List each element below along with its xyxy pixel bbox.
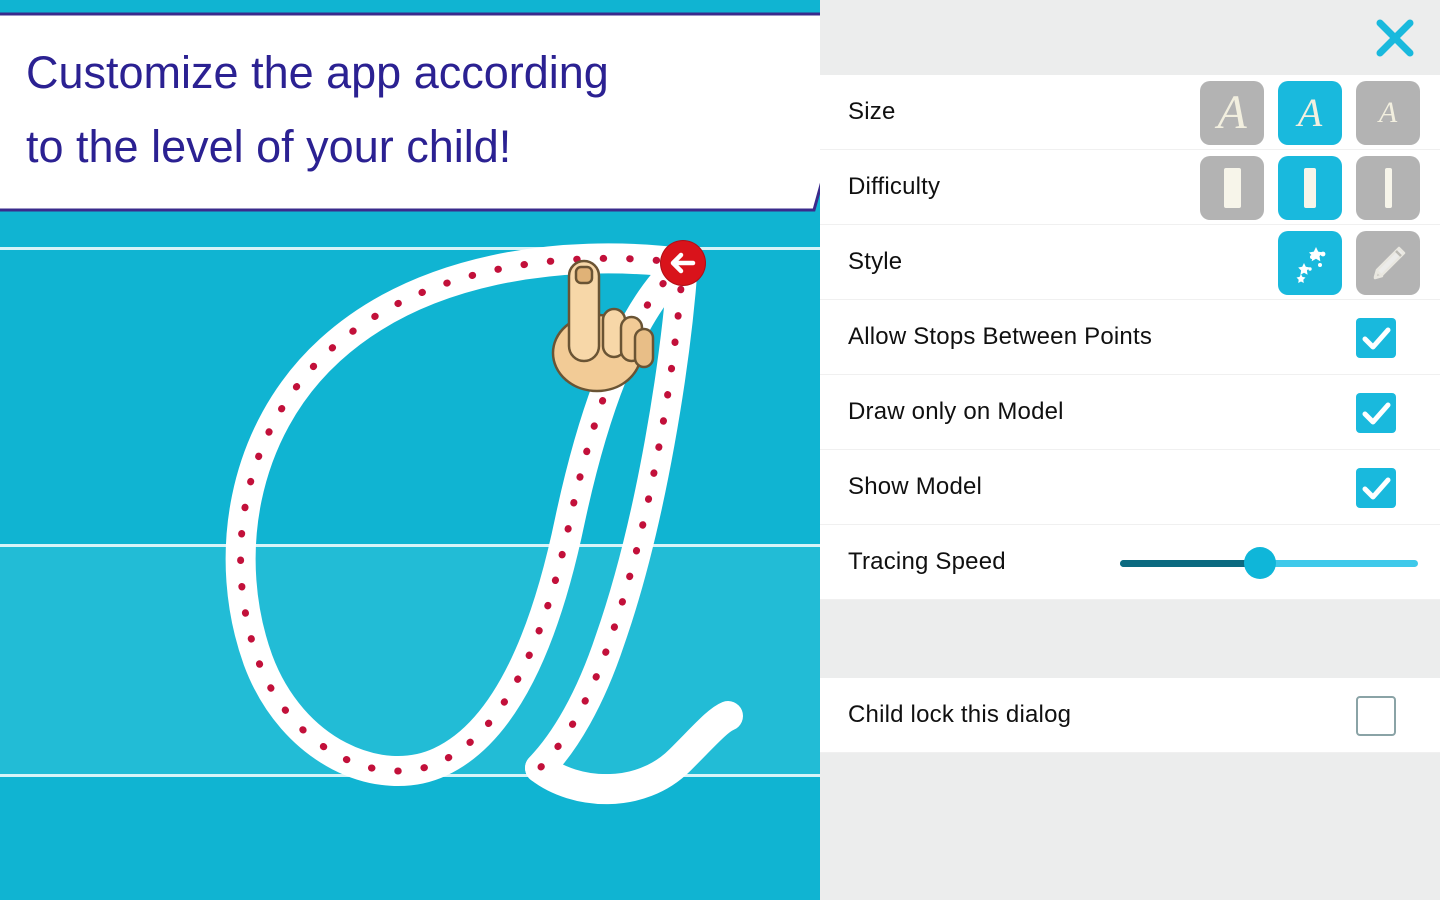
app-root: Customize the app according to the level… <box>0 0 1440 900</box>
panel-spacer <box>820 600 1440 678</box>
callout-text: Customize the app according to the level… <box>26 36 806 184</box>
size-option-small[interactable]: A <box>1356 81 1420 145</box>
difficulty-options <box>1200 150 1440 225</box>
hand-pointer-cursor[interactable] <box>545 255 655 395</box>
checkbox-child-lock[interactable] <box>1356 696 1396 736</box>
setting-label-show-model: Show Model <box>848 473 982 501</box>
setting-label-child-lock: Child lock this dialog <box>848 701 1071 729</box>
settings-rows: Size A A A <box>820 75 1440 900</box>
difficulty-option-medium[interactable] <box>1278 156 1342 220</box>
setting-row-tracing-speed[interactable]: Tracing Speed <box>820 525 1440 600</box>
slider-fill <box>1120 560 1260 567</box>
close-icon[interactable] <box>1365 8 1425 68</box>
setting-label-draw-only-on-model: Draw only on Model <box>848 398 1064 426</box>
setting-row-draw-only-on-model[interactable]: Draw only on Model <box>820 375 1440 450</box>
setting-label-tracing-speed: Tracing Speed <box>848 548 1006 576</box>
size-options: A A A <box>1200 75 1440 150</box>
pencil-icon[interactable] <box>1356 231 1420 295</box>
checkbox-show-model[interactable] <box>1356 468 1396 508</box>
size-option-medium[interactable]: A <box>1278 81 1342 145</box>
start-arrow-marker <box>661 241 705 285</box>
setting-label-style: Style <box>848 248 902 276</box>
sparkles-icon[interactable] <box>1278 231 1342 295</box>
difficulty-option-thick[interactable] <box>1200 156 1264 220</box>
setting-row-style[interactable]: Style <box>820 225 1440 300</box>
size-option-large[interactable]: A <box>1200 81 1264 145</box>
tracing-speed-slider[interactable] <box>1120 543 1418 583</box>
checkbox-draw-only-on-model[interactable] <box>1356 393 1396 433</box>
style-options <box>1278 225 1440 300</box>
setting-label-difficulty: Difficulty <box>848 173 940 201</box>
tooltip-callout: Customize the app according to the level… <box>0 12 820 212</box>
difficulty-option-thin[interactable] <box>1356 156 1420 220</box>
setting-row-allow-stops[interactable]: Allow Stops Between Points <box>820 300 1440 375</box>
panel-header <box>820 0 1440 75</box>
setting-row-show-model[interactable]: Show Model <box>820 450 1440 525</box>
panel-bottom-fill <box>820 753 1440 900</box>
slider-knob[interactable] <box>1244 547 1276 579</box>
tracing-canvas[interactable]: Customize the app according to the level… <box>0 0 820 900</box>
setting-label-allow-stops: Allow Stops Between Points <box>848 323 1152 351</box>
setting-row-difficulty[interactable]: Difficulty <box>820 150 1440 225</box>
setting-row-child-lock[interactable]: Child lock this dialog <box>820 678 1440 753</box>
settings-panel: Size A A A <box>820 0 1440 900</box>
setting-row-size[interactable]: Size A A A <box>820 75 1440 150</box>
setting-label-size: Size <box>848 98 896 126</box>
checkbox-allow-stops[interactable] <box>1356 318 1396 358</box>
